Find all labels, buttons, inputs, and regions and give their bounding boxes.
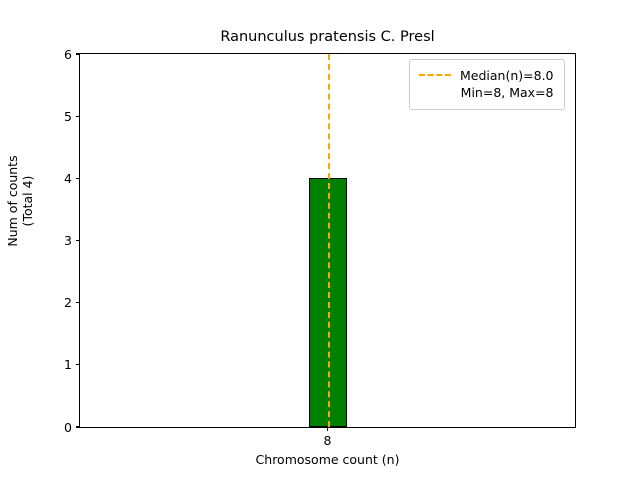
median-line-swatch-icon [419,74,451,76]
y-tick-mark [76,240,80,241]
x-tick-mark [327,427,328,431]
y-tick-label: 0 [32,419,72,436]
page-title: Ranunculus pratensis C. Presl [79,28,576,46]
y-tick-label: 5 [32,108,72,125]
y-tick-label: 4 [32,170,72,187]
y-tick-mark [76,426,80,427]
x-tick-label: 8 [288,433,368,449]
y-tick-mark [76,116,80,117]
matplotlib-figure: Ranunculus pratensis C. Presl Num of cou… [0,0,640,480]
y-axis-label-line1: Num of counts [5,155,20,246]
legend-item-median: Median(n)=8.0 [460,67,554,84]
legend-item-minmax: Min=8, Max=8 [460,84,554,101]
x-axis-label: Chromosome count (n) [79,452,576,468]
y-axis-label: Num of counts (Total 4) [5,0,35,421]
y-tick-mark [76,178,80,179]
legend-text: Median(n)=8.0 Min=8, Max=8 [460,67,554,101]
y-tick-label: 6 [32,46,72,63]
y-tick-label: 3 [32,232,72,249]
y-tick-label: 2 [32,294,72,311]
median-line [328,54,330,427]
y-tick-label: 1 [32,356,72,373]
chart-legend: Median(n)=8.0 Min=8, Max=8 [409,59,565,110]
y-tick-mark [76,364,80,365]
y-tick-mark [76,302,80,303]
y-tick-mark [76,53,80,54]
